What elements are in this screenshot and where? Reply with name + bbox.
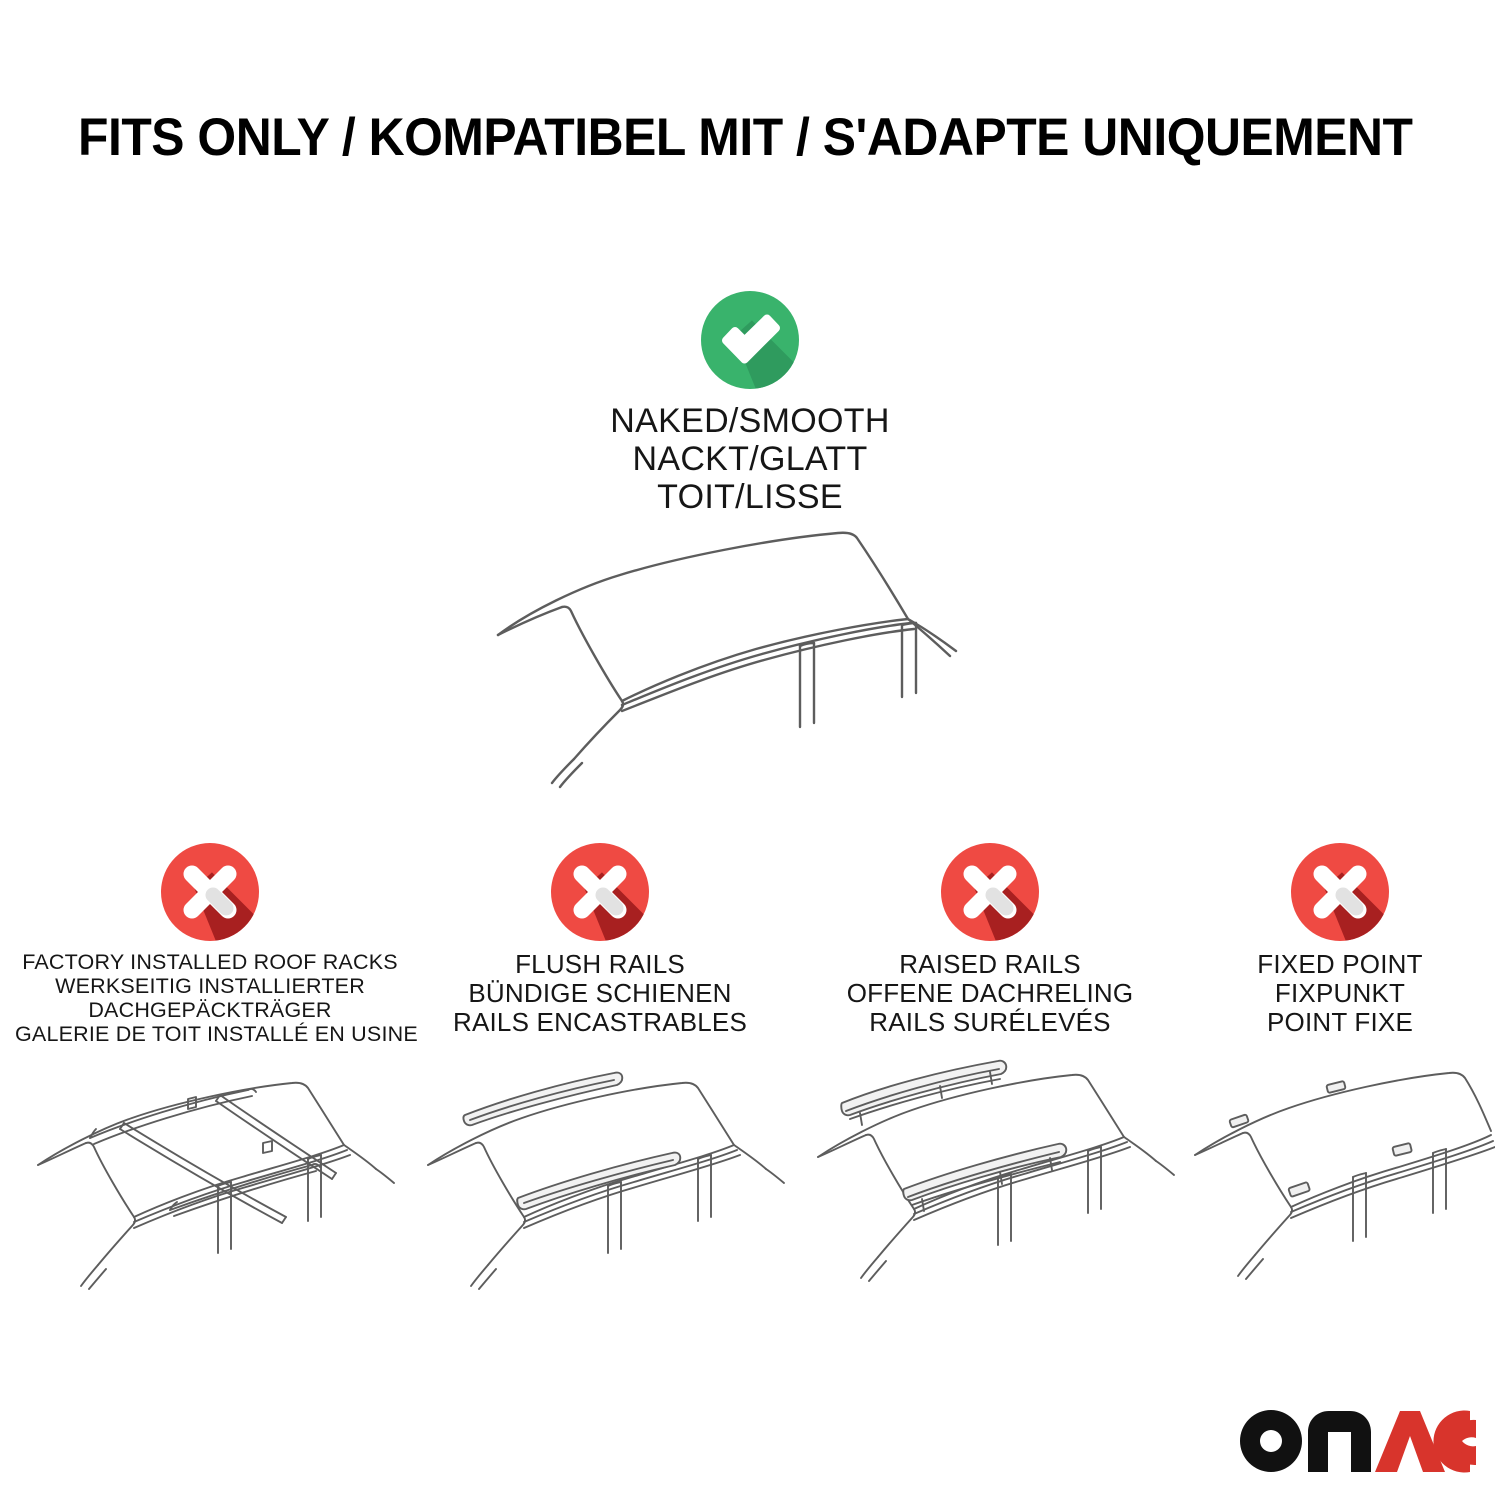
label-4-line-2: FIXPUNKT: [1185, 979, 1495, 1008]
raised-rails-svg: [800, 1055, 1180, 1290]
flush-rails-drawing: [405, 1055, 795, 1290]
factory-roof-rack-drawing: [15, 1055, 405, 1290]
label-1-line-2: WERKSEITIG INSTALLIERTER: [15, 974, 405, 998]
x-circle-icon: [1291, 843, 1389, 941]
x-glyph: [1291, 843, 1389, 941]
check-circle-icon: [701, 291, 799, 389]
compatible-badge-wrap: [430, 288, 1070, 392]
label-4-line-3: POINT FIXE: [1185, 1008, 1495, 1037]
omac-logo: [1238, 1408, 1476, 1478]
fixed-point-drawing: [1185, 1055, 1495, 1290]
label-3-line-2: OFFENE DACHRELING: [795, 979, 1185, 1008]
incompatible-labels-3: RAISED RAILS OFFENE DACHRELING RAILS SUR…: [795, 950, 1185, 1037]
incompatible-item-flush-rails: FLUSH RAILS BÜNDIGE SCHIENEN RAILS ENCAS…: [405, 840, 795, 1037]
label-2-line-1: FLUSH RAILS: [405, 950, 795, 979]
incompatible-item-raised-rails: RAISED RAILS OFFENE DACHRELING RAILS SUR…: [795, 840, 1185, 1037]
flush-rails-svg: [410, 1055, 790, 1290]
compatible-label-fr: TOIT/LISSE: [430, 478, 1070, 516]
naked-smooth-roof-drawing: [470, 515, 1070, 805]
omac-logo-svg: [1238, 1408, 1476, 1478]
incompatible-item-fixed-point: FIXED POINT FIXPUNKT POINT FIXE: [1185, 840, 1495, 1037]
page-title: FITS ONLY / KOMPATIBEL MIT / S'ADAPTE UN…: [78, 108, 1356, 168]
label-3-line-1: RAISED RAILS: [795, 950, 1185, 979]
x-circle-icon: [551, 843, 649, 941]
incompatible-item-factory-installed-roof-racks: FACTORY INSTALLED ROOF RACKS WERKSEITIG …: [15, 840, 405, 1046]
roof-outline-svg: [470, 515, 1070, 805]
logo-letter-m: [1308, 1411, 1371, 1472]
label-4-line-1: FIXED POINT: [1185, 950, 1495, 979]
incompatible-labels-4: FIXED POINT FIXPUNKT POINT FIXE: [1185, 950, 1495, 1037]
compatible-section: NAKED/SMOOTH NACKT/GLATT TOIT/LISSE: [430, 288, 1070, 516]
x-badge-wrap-1: [15, 840, 405, 944]
incompatible-section: FACTORY INSTALLED ROOF RACKS WERKSEITIG …: [0, 840, 1500, 1290]
label-2-line-3: RAILS ENCASTRABLES: [405, 1008, 795, 1037]
x-glyph: [941, 843, 1039, 941]
infographic-page: FITS ONLY / KOMPATIBEL MIT / S'ADAPTE UN…: [0, 0, 1500, 1500]
raised-rails-drawing: [795, 1055, 1185, 1290]
x-circle-icon: [941, 843, 1039, 941]
label-1-line-3: DACHGEPÄCKTRÄGER: [15, 998, 405, 1022]
x-glyph: [161, 843, 259, 941]
fixed-point-svg: [1185, 1055, 1495, 1290]
incompatible-labels-1: FACTORY INSTALLED ROOF RACKS WERKSEITIG …: [15, 950, 405, 1046]
x-badge-wrap-3: [795, 840, 1185, 944]
x-circle-icon: [161, 843, 259, 941]
compatible-label-de: NACKT/GLATT: [430, 440, 1070, 478]
label-1-line-4: GALERIE DE TOIT INSTALLÉ EN USINE: [15, 1022, 405, 1046]
logo-letter-o: [1240, 1410, 1302, 1472]
incompatible-labels-2: FLUSH RAILS BÜNDIGE SCHIENEN RAILS ENCAS…: [405, 950, 795, 1037]
label-3-line-3: RAILS SURÉLEVÉS: [795, 1008, 1185, 1037]
label-1-line-1: FACTORY INSTALLED ROOF RACKS: [15, 950, 405, 974]
x-badge-wrap-2: [405, 840, 795, 944]
x-badge-wrap-4: [1185, 840, 1495, 944]
roof-rack-svg: [20, 1055, 400, 1290]
compatible-labels: NAKED/SMOOTH NACKT/GLATT TOIT/LISSE: [430, 402, 1070, 516]
compatible-label-en: NAKED/SMOOTH: [430, 402, 1070, 440]
x-glyph: [551, 843, 649, 941]
label-2-line-2: BÜNDIGE SCHIENEN: [405, 979, 795, 1008]
check-glyph: [701, 291, 799, 389]
